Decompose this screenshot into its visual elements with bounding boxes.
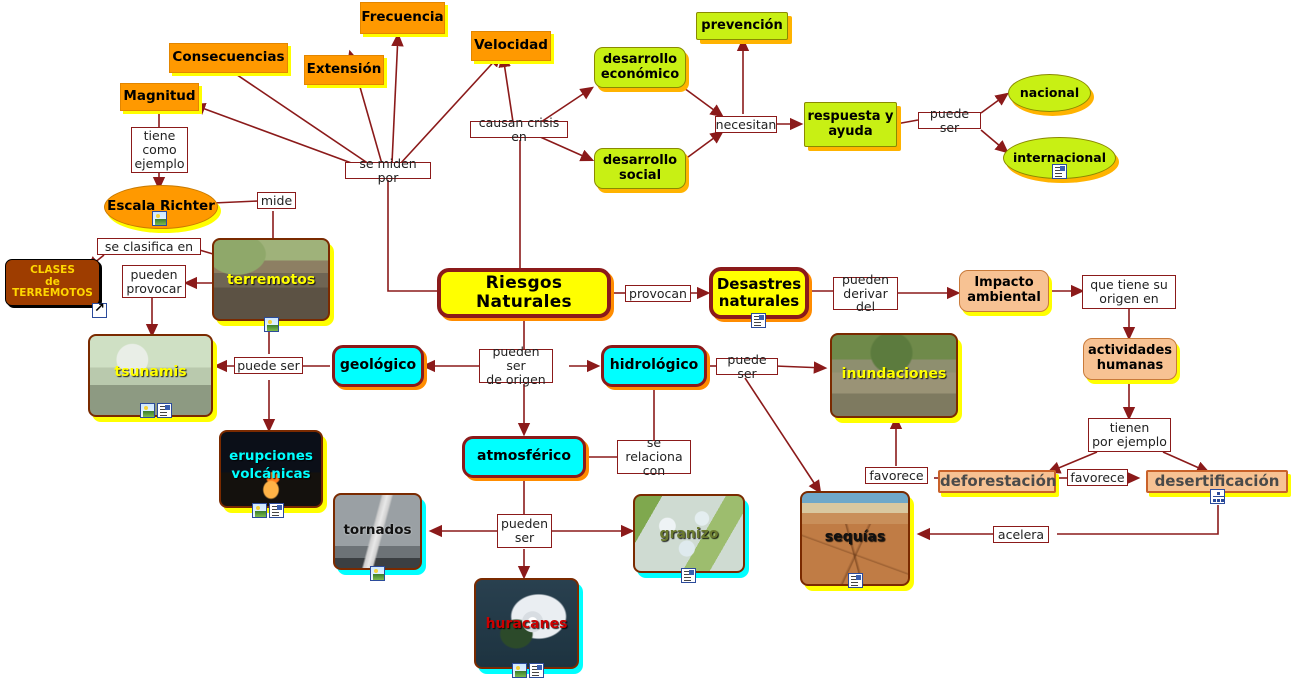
node-label: geológico	[335, 358, 421, 374]
image-node-granizo[interactable]: granizo	[633, 494, 745, 573]
badges-terremotos	[264, 317, 279, 332]
node-desastres-naturales[interactable]: Desastres naturales	[709, 267, 809, 319]
node-label: Frecuencia	[361, 10, 444, 25]
image-node-erupciones-volcanicas[interactable]: erupciones volcánicas	[219, 430, 323, 508]
image-node-sequias[interactable]: sequías	[800, 491, 910, 586]
link-label-se-miden-por[interactable]: se miden por	[345, 162, 431, 179]
node-deforestacion[interactable]: deforestación	[938, 470, 1056, 493]
badges-huracanes	[512, 663, 544, 678]
node-label: nacional	[1009, 86, 1090, 100]
link-text-line2: por ejemplo	[1092, 435, 1167, 449]
picture-icon[interactable]	[140, 403, 155, 418]
link-label-puede-ser-hidrologico[interactable]: puede ser	[716, 358, 778, 375]
link-text-line1: pueden ser	[482, 345, 550, 373]
link-text: se miden por	[348, 157, 428, 185]
node-velocidad[interactable]: Velocidad	[471, 31, 551, 61]
node-riesgos-naturales[interactable]: Riesgos Naturales	[437, 268, 611, 318]
link-text-line1: pueden	[130, 268, 177, 282]
node-extension[interactable]: Extensión	[304, 55, 384, 85]
link-text-line2: de origen	[486, 373, 545, 387]
badges-erupciones-volcanicas	[252, 503, 284, 518]
link-label-provocan[interactable]: provocan	[625, 285, 691, 302]
badges-sequias	[848, 573, 863, 588]
node-actividades-humanas[interactable]: actividades humanas	[1083, 338, 1177, 380]
picture-icon[interactable]	[252, 503, 267, 518]
node-label-line2: humanas	[1097, 359, 1164, 374]
link-text-line2: ser	[515, 531, 534, 545]
node-hidrologico[interactable]: hidrológico	[601, 345, 707, 387]
link-label-mide[interactable]: mide	[257, 192, 296, 209]
link-label-pueden-ser-atmosferico[interactable]: pueden ser	[497, 514, 552, 548]
document-icon[interactable]	[1052, 164, 1067, 179]
document-icon[interactable]	[681, 568, 696, 583]
link-label-se-relaciona-con[interactable]: se relaciona con	[617, 440, 691, 474]
node-prevencion[interactable]: prevención	[696, 12, 788, 40]
link-label-tienen-por-ejemplo[interactable]: tienen por ejemplo	[1088, 418, 1171, 452]
picture-icon[interactable]	[264, 317, 279, 332]
badges-internacional	[1052, 164, 1067, 179]
link-label-puede-ser-nacional[interactable]: puede ser	[918, 112, 981, 129]
node-label-line3: TERREMOTOS	[12, 288, 93, 300]
image-node-terremotos[interactable]: terremotos	[212, 238, 330, 321]
link-text-line1: que tiene su	[1090, 278, 1168, 292]
link-label-se-clasifica-en[interactable]: se clasifica en	[97, 238, 201, 255]
link-text: puede ser	[719, 353, 775, 381]
link-text: acelera	[998, 528, 1044, 542]
node-frecuencia[interactable]: Frecuencia	[360, 2, 445, 34]
link-label-acelera[interactable]: acelera	[993, 526, 1049, 543]
node-label-line1: actividades	[1088, 344, 1172, 359]
node-label: prevención	[697, 19, 787, 34]
node-geologico[interactable]: geológico	[332, 345, 424, 387]
document-icon[interactable]	[751, 313, 766, 328]
node-label-line1: desarrollo	[603, 154, 677, 169]
link-label-pueden-derivar-del[interactable]: pueden derivar del	[833, 277, 898, 310]
node-label-line2: ayuda	[828, 125, 872, 140]
link-text-line2: como	[142, 143, 176, 157]
link-text: favorece	[1070, 471, 1124, 485]
image-node-tornados[interactable]: tornados	[333, 493, 422, 570]
link-text-line1: se relaciona	[620, 436, 688, 464]
image-caption: sequías	[800, 529, 910, 545]
link-text: se clasifica en	[105, 240, 193, 254]
node-respuesta-y-ayuda[interactable]: respuesta y ayuda	[804, 102, 897, 147]
image-caption: inundaciones	[830, 366, 958, 382]
image-caption: huracanes	[474, 616, 579, 632]
document-icon[interactable]	[269, 503, 284, 518]
document-icon[interactable]	[157, 403, 172, 418]
node-label: Consecuencias	[170, 50, 287, 65]
image-caption: tornados	[333, 522, 422, 538]
image-caption: granizo	[633, 526, 745, 542]
badges-tsunamis	[140, 403, 172, 418]
link-label-pueden-ser-de-origen[interactable]: pueden ser de origen	[479, 349, 553, 383]
link-text: necesitan	[716, 118, 777, 132]
link-text-line1: pueden	[842, 273, 889, 287]
link-label-puede-ser-geologico[interactable]: puede ser	[234, 357, 303, 374]
picture-icon[interactable]	[152, 211, 167, 226]
badges-desastres-naturales	[751, 313, 766, 328]
image-node-huracanes[interactable]: huracanes	[474, 578, 579, 669]
image-caption-line2: volcánicas	[219, 466, 323, 482]
node-atmosferico[interactable]: atmosférico	[462, 436, 586, 478]
link-text-line1: tiene	[144, 129, 176, 143]
link-text-line3: ejemplo	[134, 157, 184, 171]
image-node-inundaciones[interactable]: inundaciones	[830, 333, 958, 418]
node-label-line1: desarrollo	[603, 53, 677, 68]
node-label: Extensión	[305, 62, 383, 77]
link-text: puede ser	[921, 107, 978, 135]
image-caption-line1: erupciones	[219, 448, 323, 464]
link-text-line2: provocar	[126, 282, 181, 296]
node-label-line2: naturales	[719, 293, 799, 310]
hyperlink-icon[interactable]	[92, 303, 107, 318]
node-consecuencias[interactable]: Consecuencias	[169, 43, 288, 73]
node-label: deforestación	[940, 473, 1054, 490]
node-label: hidrológico	[604, 358, 704, 374]
node-label-line2: social	[619, 169, 661, 184]
badges-clases-de-terremotos	[92, 303, 107, 318]
node-label: desertificación	[1148, 473, 1286, 490]
node-nacional[interactable]: nacional	[1008, 74, 1091, 112]
node-label-line1: Desastres	[717, 276, 801, 293]
node-label-line2: económico	[601, 68, 679, 83]
badges-tornados	[370, 566, 385, 581]
link-text: provocan	[629, 287, 687, 301]
node-label-line1: CLASES	[30, 265, 75, 277]
badges-granizo	[681, 568, 696, 583]
badges-desertificacion	[1210, 489, 1225, 504]
node-label-line2: ambiental	[967, 291, 1041, 306]
node-label: Velocidad	[472, 38, 550, 53]
link-label-tiene-como-ejemplo[interactable]: tiene como ejemplo	[131, 127, 188, 173]
link-label-favorece-desertificacion[interactable]: favorece	[1067, 469, 1128, 486]
picture-icon[interactable]	[512, 663, 527, 678]
node-label: Riesgos Naturales	[441, 274, 607, 312]
link-text: causan crisis en	[473, 116, 565, 144]
link-text-line1: tienen	[1110, 421, 1150, 435]
link-text-line2: con	[643, 464, 665, 478]
node-label: atmosférico	[465, 449, 583, 465]
document-icon[interactable]	[848, 573, 863, 588]
link-text: puede ser	[237, 359, 300, 373]
link-text: favorece	[869, 469, 923, 483]
node-desarrollo-social[interactable]: desarrollo social	[594, 148, 686, 189]
link-label-pueden-provocar[interactable]: pueden provocar	[122, 265, 186, 298]
nested-map-icon[interactable]	[1210, 489, 1225, 504]
node-label-line1: Impacto	[974, 276, 1033, 291]
node-clases-de-terremotos[interactable]: CLASES de TERREMOTOS	[5, 259, 100, 306]
node-label: Magnitud	[121, 89, 198, 104]
link-label-necesitan[interactable]: necesitan	[715, 116, 777, 133]
node-label: internacional	[1004, 151, 1115, 165]
link-text: mide	[261, 194, 292, 208]
image-caption: terremotos	[212, 272, 330, 288]
node-label-line1: respuesta y	[807, 110, 893, 125]
picture-icon[interactable]	[370, 566, 385, 581]
link-text-line2: origen en	[1099, 292, 1158, 306]
node-impacto-ambiental[interactable]: Impacto ambiental	[959, 270, 1049, 312]
link-text-line2: derivar del	[836, 287, 895, 315]
node-desarrollo-economico[interactable]: desarrollo económico	[594, 47, 686, 88]
badges-escala-richter	[152, 211, 167, 226]
document-icon[interactable]	[529, 663, 544, 678]
concept-map-canvas: Frecuencia Consecuencias Extensión Veloc…	[0, 0, 1291, 680]
link-label-causan-crisis-en[interactable]: causan crisis en	[470, 121, 568, 138]
link-label-que-tiene-su-origen-en[interactable]: que tiene su origen en	[1082, 275, 1176, 309]
image-caption: tsunamis	[88, 364, 213, 380]
link-label-favorece-inundaciones[interactable]: favorece	[865, 467, 928, 484]
node-magnitud[interactable]: Magnitud	[120, 83, 199, 111]
link-text-line1: pueden	[501, 517, 548, 531]
